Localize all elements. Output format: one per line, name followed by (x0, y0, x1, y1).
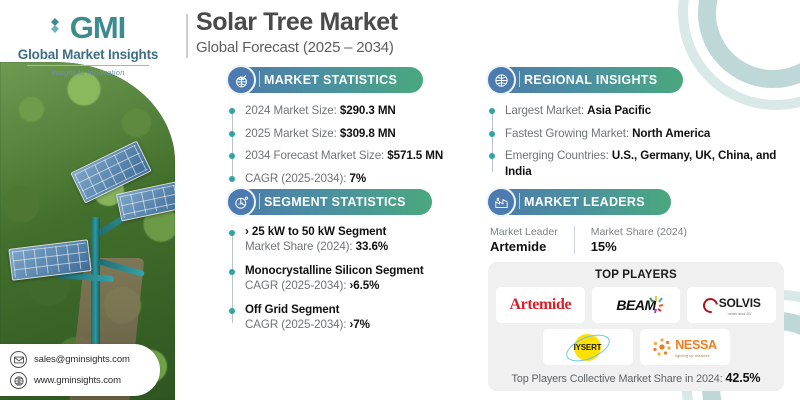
item-label: Fastest Growing Market: (505, 127, 632, 140)
contact-website: www.gminsights.com (34, 375, 121, 386)
globe-icon (10, 372, 27, 389)
bullet-dot (489, 153, 495, 159)
bullet-dot (229, 176, 235, 182)
list-item: 2024 Market Size: $290.3 MN (245, 103, 464, 119)
market-leader-column: Market Leader Artemide (490, 226, 574, 254)
market-statistics-list: 2024 Market Size: $290.3 MN 2025 Market … (228, 103, 464, 187)
section-market-statistics: MARKET STATISTICS 2024 Market Size: $290… (228, 66, 464, 194)
bullet-dot (489, 131, 495, 137)
bullet-dot (229, 308, 235, 314)
beam-rays-icon (646, 294, 666, 316)
pill-separator (519, 71, 520, 87)
list-item: › 25 kW to 50 kW Segment Market Share (2… (245, 225, 468, 253)
brand-logo: GMI Global Market Insights Insight to In… (8, 12, 168, 77)
globe-icon (486, 65, 516, 95)
player-logo-solvis[interactable]: SOLVIS nederland BV (687, 287, 776, 323)
envelope-icon (10, 351, 27, 368)
top-players-panel: TOP PLAYERS Artemide BEAM (488, 262, 784, 391)
bullet-dot (229, 230, 235, 236)
list-item: Fastest Growing Market: North America (505, 126, 780, 142)
page-subtitle: Global Forecast (2025 – 2034) (196, 39, 398, 56)
item-label: CAGR (2025-2034): (245, 172, 350, 185)
infographic-page: GMI Global Market Insights Insight to In… (0, 0, 800, 400)
segment-head: Off Grid Segment (245, 303, 468, 316)
factory-icon (486, 187, 516, 217)
segment-sub-label: CAGR (2025-2034): (245, 318, 350, 331)
market-leader-caption: Market Leader (490, 226, 558, 238)
item-value: $290.3 MN (340, 104, 396, 117)
contact-email: sales@gminsights.com (34, 354, 130, 365)
segment-statistics-list: › 25 kW to 50 kW Segment Market Share (2… (228, 225, 468, 331)
list-item: 2025 Market Size: $309.8 MN (245, 126, 464, 142)
market-statistics-label: MARKET STATISTICS (264, 73, 397, 87)
pill-separator (259, 71, 260, 87)
globe-chart-icon (226, 65, 256, 95)
footer-value: 42.5% (726, 371, 761, 385)
market-leader-value: Artemide (490, 239, 558, 254)
market-statistics-pill: MARKET STATISTICS (228, 67, 423, 93)
market-share-column: Market Share (2024) 15% (574, 226, 703, 254)
segment-sub-label: Market Share (2024): (245, 240, 356, 253)
item-label: 2025 Market Size: (245, 127, 340, 140)
list-item: 2034 Forecast Market Size: $571.5 MN (245, 148, 464, 164)
list-item: Largest Market: Asia Pacific (505, 103, 780, 119)
market-share-caption: Market Share (2024) (591, 226, 687, 238)
logo-divider (27, 65, 149, 66)
nessa-dots-icon (652, 337, 672, 357)
section-market-leaders: MARKET LEADERS Market Leader Artemide Ma… (488, 188, 788, 391)
page-title-block: Solar Tree Market Global Forecast (2025 … (196, 8, 398, 56)
regional-insights-list: Largest Market: Asia Pacific Fastest Gro… (488, 103, 780, 180)
top-players-row-2: IYSERT NESSA lighting up miracles (496, 329, 776, 365)
list-item: Off Grid Segment CAGR (2025-2034): ›7% (245, 303, 468, 331)
company-name: Global Market Insights (8, 47, 168, 62)
segment-sub-value: ›6.5% (350, 279, 380, 292)
player-logo-beam[interactable]: BEAM (592, 287, 681, 323)
brand-tagline: Insight to Innovation (8, 68, 168, 77)
segment-sub-value: ›7% (350, 318, 370, 331)
item-value: 7% (350, 172, 367, 185)
list-item: Emerging Countries: U.S., Germany, UK, C… (505, 148, 780, 179)
segment-head: › 25 kW to 50 kW Segment (245, 225, 468, 238)
item-value: Asia Pacific (587, 104, 651, 117)
pill-separator (259, 193, 260, 209)
title-divider (186, 14, 188, 58)
player-sub: nederland BV (719, 312, 761, 316)
footer-label: Top Players Collective Market Share in 2… (512, 373, 726, 385)
player-name: Artemide (510, 296, 572, 314)
bullet-dot (229, 269, 235, 275)
top-players-row-1: Artemide BEAM (496, 287, 776, 323)
player-logo-iysert[interactable]: IYSERT (543, 329, 633, 365)
regional-insights-pill: REGIONAL INSIGHTS (488, 67, 683, 93)
segment-sub-value: 33.6% (356, 240, 388, 253)
pill-separator (519, 193, 520, 209)
player-logo-nessa[interactable]: NESSA lighting up miracles (640, 329, 730, 365)
item-label: 2024 Market Size: (245, 104, 340, 117)
bullet-dot (229, 108, 235, 114)
page-title: Solar Tree Market (196, 8, 398, 37)
top-players-footer: Top Players Collective Market Share in 2… (496, 371, 776, 385)
solvis-arc-icon (700, 295, 721, 316)
market-share-value: 15% (591, 239, 687, 254)
bullet-dot (229, 131, 235, 137)
item-label: 2034 Forecast Market Size: (245, 149, 387, 162)
item-value: $309.8 MN (340, 127, 396, 140)
player-name: IYSERT (574, 343, 602, 352)
list-item: CAGR (2025-2034): 7% (245, 171, 464, 187)
diamond-icon (51, 15, 67, 40)
player-sub: lighting up miracles (675, 354, 717, 358)
section-regional-insights: REGIONAL INSIGHTS Largest Market: Asia P… (488, 66, 780, 187)
segment-head: Monocrystalline Silicon Segment (245, 264, 468, 277)
player-name: NESSA (675, 338, 717, 352)
item-label: Largest Market: (505, 104, 587, 117)
player-name: SOLVIS (719, 296, 761, 310)
contact-website-row[interactable]: www.gminsights.com (10, 372, 160, 389)
regional-insights-label: REGIONAL INSIGHTS (524, 73, 657, 87)
pie-analytics-icon (226, 187, 256, 217)
player-logo-artemide[interactable]: Artemide (496, 287, 585, 323)
segment-sub-label: CAGR (2025-2034): (245, 279, 350, 292)
market-leaders-label: MARKET LEADERS (524, 195, 645, 209)
item-label: Emerging Countries: (505, 149, 612, 162)
market-leader-summary: Market Leader Artemide Market Share (202… (488, 226, 788, 254)
segment-statistics-label: SEGMENT STATISTICS (264, 195, 406, 209)
item-value: North America (632, 127, 710, 140)
logo-text: GMI (70, 12, 126, 43)
item-value: $571.5 MN (387, 149, 443, 162)
section-segment-statistics: SEGMENT STATISTICS › 25 kW to 50 kW Segm… (228, 188, 468, 338)
bullet-dot (229, 153, 235, 159)
contact-block: sales@gminsights.com www.gminsights.com (0, 344, 160, 396)
top-players-title: TOP PLAYERS (496, 269, 776, 281)
contact-email-row[interactable]: sales@gminsights.com (10, 351, 160, 368)
bullet-dot (489, 108, 495, 114)
list-item: Monocrystalline Silicon Segment CAGR (20… (245, 264, 468, 292)
